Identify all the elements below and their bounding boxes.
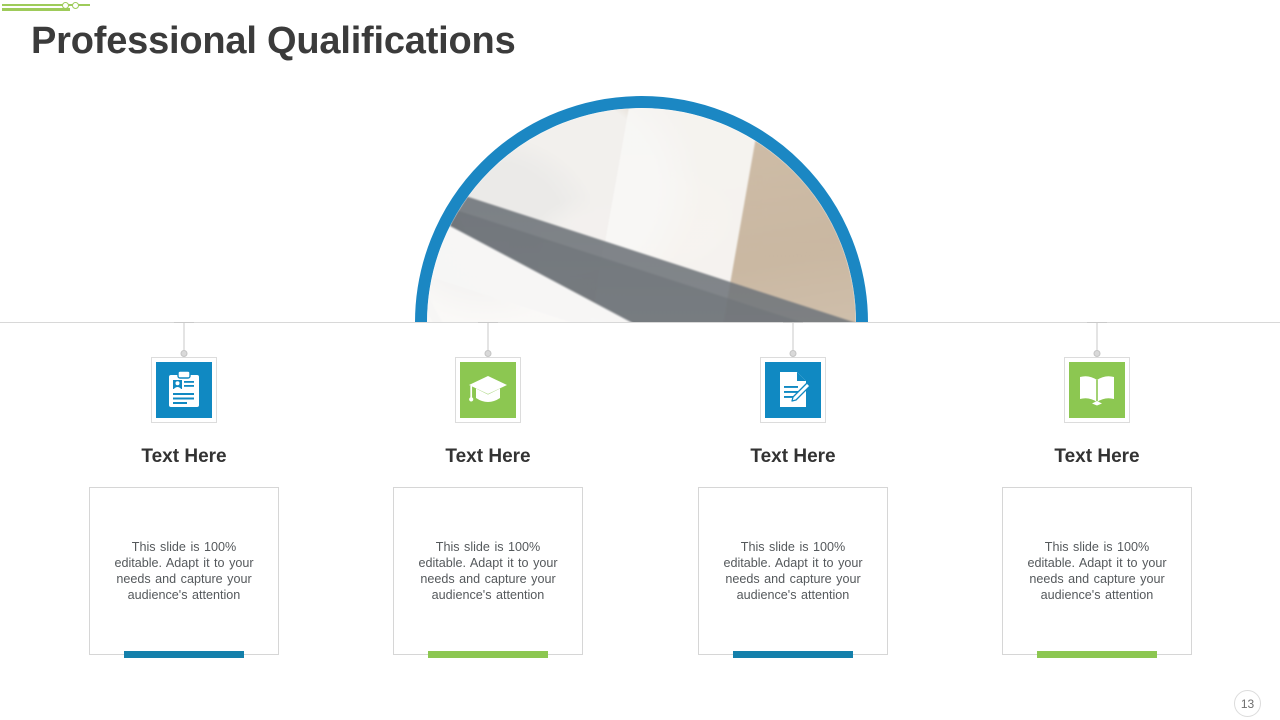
column-body-3: This slide is 100% editable. Adapt it to…: [719, 539, 867, 604]
icon-tile-2[interactable]: [460, 362, 516, 418]
hanger-connector: [393, 322, 583, 362]
column-title-1: Text Here: [89, 446, 279, 468]
column-1: Text Here This slide is 100% editable. A…: [89, 322, 279, 655]
hanger-wire: [488, 322, 489, 353]
decoration-line-tail: [80, 4, 90, 6]
column-card-1: This slide is 100% editable. Adapt it to…: [89, 487, 279, 655]
icon-tile-3[interactable]: [765, 362, 821, 418]
hanger-knob: [181, 350, 188, 357]
column-title-2: Text Here: [393, 446, 583, 468]
column-title-4: Text Here: [1002, 446, 1192, 468]
hero-photo: [427, 108, 856, 323]
page-title: Professional Qualifications: [31, 20, 516, 63]
card-accent-bar-2: [428, 651, 548, 658]
column-body-2: This slide is 100% editable. Adapt it to…: [414, 539, 562, 604]
resume-clipboard-icon: [167, 371, 201, 409]
hero-image-frame: [415, 96, 868, 323]
column-body-1: This slide is 100% editable. Adapt it to…: [110, 539, 258, 604]
card-accent-bar-3: [733, 651, 853, 658]
hanger-connector: [89, 322, 279, 362]
column-body-4: This slide is 100% editable. Adapt it to…: [1023, 539, 1171, 604]
column-4: Text Here This slide is 100% editable. A…: [1002, 322, 1192, 655]
column-card-4: This slide is 100% editable. Adapt it to…: [1002, 487, 1192, 655]
hanger-wire: [793, 322, 794, 353]
hanger-connector: [698, 322, 888, 362]
hero-ring-border: [415, 96, 868, 323]
card-accent-bar-4: [1037, 651, 1157, 658]
graduation-cap-icon: [468, 374, 508, 406]
slide-decoration: [0, 0, 120, 16]
column-2: Text Here This slide is 100% editable. A…: [393, 322, 583, 655]
hanger-wire: [184, 322, 185, 353]
hanger-knob: [485, 350, 492, 357]
column-card-2: This slide is 100% editable. Adapt it to…: [393, 487, 583, 655]
icon-tile-1[interactable]: [156, 362, 212, 418]
card-accent-bar-1: [124, 651, 244, 658]
open-book-icon: [1078, 374, 1116, 406]
icon-tile-4[interactable]: [1069, 362, 1125, 418]
column-card-3: This slide is 100% editable. Adapt it to…: [698, 487, 888, 655]
hanger-knob: [790, 350, 797, 357]
hanger-knob: [1094, 350, 1101, 357]
decoration-circle-first: [62, 2, 69, 9]
column-title-3: Text Here: [698, 446, 888, 468]
decoration-line-lower: [2, 8, 70, 11]
column-3: Text Here This slide is 100% editable. A…: [698, 322, 888, 655]
page-number-badge: 13: [1234, 690, 1261, 717]
document-pen-icon: [776, 371, 810, 409]
hanger-connector: [1002, 322, 1192, 362]
decoration-circle-second: [72, 2, 79, 9]
hanger-wire: [1097, 322, 1098, 353]
